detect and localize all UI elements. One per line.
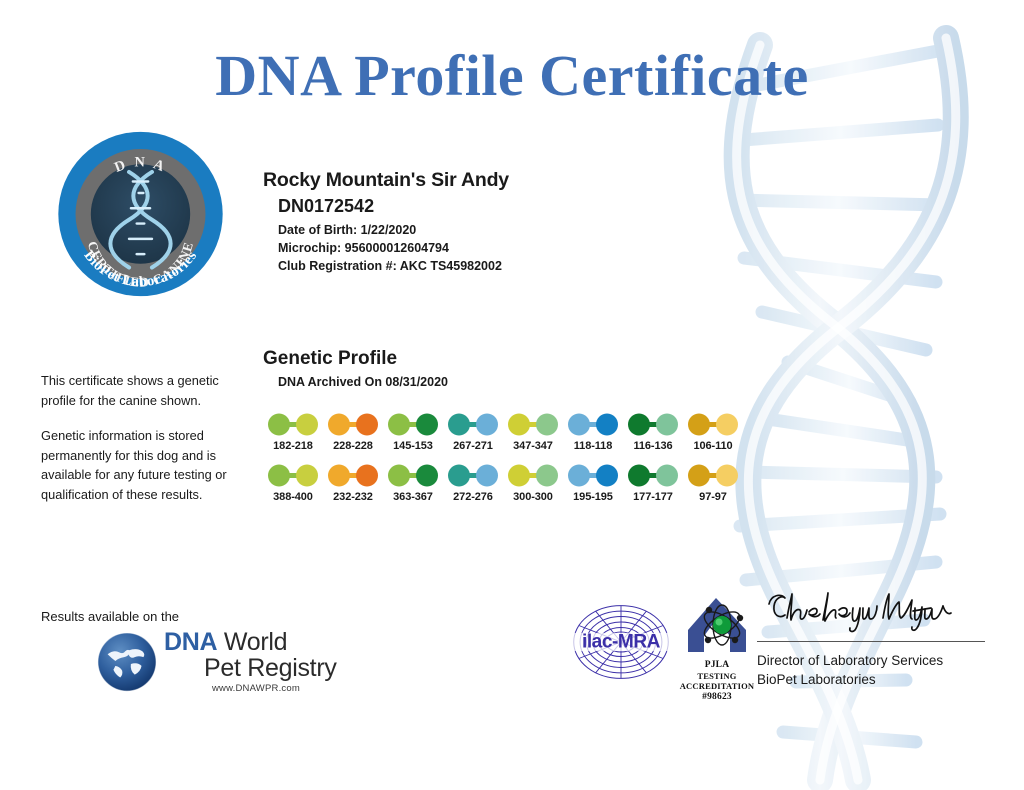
genetic-marker-label: 177-177 <box>633 491 673 503</box>
allele-dumbbell-icon <box>567 464 619 488</box>
registry-block: Results available on the <box>41 609 337 694</box>
genetic-profile-title: Genetic Profile <box>263 348 448 370</box>
allele-dumbbell-icon <box>627 464 679 488</box>
allele-dumbbell-icon <box>687 413 739 437</box>
genetic-marker: 182-218 <box>263 413 323 452</box>
genetic-marker-grid: 182-218228-228145-153267-271347-347118-1… <box>263 413 743 503</box>
description-paragraph-1: This certificate shows a genetic profile… <box>41 371 241 410</box>
genetic-marker-label: 272-276 <box>453 491 493 503</box>
pjla-line-4: #98623 <box>678 692 756 703</box>
allele-dumbbell-icon <box>327 413 379 437</box>
registry-wordmark: DNA World Pet Registry www.DNAWPR.com <box>164 630 337 694</box>
genetic-marker: 116-136 <box>623 413 683 452</box>
dog-club-registration: Club Registration #: AKC TS45982002 <box>278 257 509 275</box>
pjla-atom-icon <box>678 596 756 654</box>
allele-dumbbell-icon <box>627 413 679 437</box>
genetic-marker-label: 195-195 <box>573 491 613 503</box>
genetic-marker-label: 300-300 <box>513 491 553 503</box>
accreditation-block: ilac-MRA PJLA <box>566 596 756 702</box>
genetic-marker-label: 267-271 <box>453 440 493 452</box>
genetic-marker: 145-153 <box>383 413 443 452</box>
registry-lead-text: Results available on the <box>41 609 337 624</box>
genetic-marker-label: 97-97 <box>699 491 727 503</box>
genetic-marker-label: 228-228 <box>333 440 373 452</box>
registry-name-world: World <box>217 628 287 656</box>
registry-name-dna: DNA <box>164 628 217 656</box>
certificate-page: DNA Profile Certificate <box>0 0 1024 790</box>
genetic-marker: 363-367 <box>383 464 443 503</box>
genetic-marker-row: 388-400232-232363-367272-276300-300195-1… <box>263 464 743 503</box>
genetic-marker-label: 116-136 <box>633 440 672 452</box>
genetic-marker: 300-300 <box>503 464 563 503</box>
dna-archived-date: DNA Archived On 08/31/2020 <box>278 375 448 389</box>
allele-dumbbell-icon <box>447 413 499 437</box>
biopet-certified-canine-seal: D N A CERTIFIED CANINE BioPet Laboratori… <box>53 128 228 300</box>
genetic-marker: 267-271 <box>443 413 503 452</box>
genetic-profile-header: Genetic Profile DNA Archived On 08/31/20… <box>263 348 448 389</box>
allele-dumbbell-icon <box>387 464 439 488</box>
allele-dumbbell-icon <box>327 464 379 488</box>
dog-info-block: Rocky Mountain's Sir Andy DN0172542 Date… <box>263 169 509 275</box>
allele-dumbbell-icon <box>567 413 619 437</box>
handwritten-signature <box>765 588 955 634</box>
dna-world-pet-registry-logo[interactable]: DNA World Pet Registry www.DNAWPR.com <box>96 630 337 694</box>
page-title: DNA Profile Certificate <box>0 42 1024 109</box>
genetic-marker: 388-400 <box>263 464 323 503</box>
pjla-accreditation: PJLA TESTING ACCREDITATION #98623 <box>678 596 756 702</box>
pjla-line-1: PJLA <box>678 660 756 671</box>
genetic-marker: 97-97 <box>683 464 743 503</box>
signature-block: Director of Laboratory Services BioPet L… <box>757 588 987 689</box>
globe-icon <box>96 631 158 693</box>
genetic-marker-label: 118-118 <box>574 440 612 452</box>
genetic-marker-label: 388-400 <box>273 491 313 503</box>
description-paragraph-2: Genetic information is stored permanentl… <box>41 426 241 504</box>
dog-name: Rocky Mountain's Sir Andy <box>263 169 509 192</box>
genetic-marker: 118-118 <box>563 413 623 452</box>
genetic-marker-row: 182-218228-228145-153267-271347-347118-1… <box>263 413 743 452</box>
dog-date-of-birth: Date of Birth: 1/22/2020 <box>278 221 509 239</box>
registry-name-pet-registry: Pet Registry <box>204 656 337 681</box>
dog-microchip: Microchip: 956000012604794 <box>278 239 509 257</box>
ilac-mra-logo: ilac-MRA <box>566 602 676 682</box>
allele-dumbbell-icon <box>447 464 499 488</box>
registry-url[interactable]: www.DNAWPR.com <box>212 684 337 694</box>
signer-organization: BioPet Laboratories <box>757 670 987 689</box>
allele-dumbbell-icon <box>267 464 319 488</box>
genetic-marker-label: 232-232 <box>333 491 373 503</box>
dog-registration-id: DN0172542 <box>278 196 509 217</box>
allele-dumbbell-icon <box>687 464 739 488</box>
signature-rule <box>757 641 985 642</box>
genetic-marker: 232-232 <box>323 464 383 503</box>
genetic-marker: 195-195 <box>563 464 623 503</box>
genetic-marker-label: 145-153 <box>393 440 433 452</box>
allele-dumbbell-icon <box>507 464 559 488</box>
genetic-marker: 272-276 <box>443 464 503 503</box>
genetic-marker: 347-347 <box>503 413 563 452</box>
genetic-marker-label: 106-110 <box>693 440 732 452</box>
genetic-marker: 228-228 <box>323 413 383 452</box>
signer-title: Director of Laboratory Services <box>757 651 987 670</box>
genetic-marker: 177-177 <box>623 464 683 503</box>
allele-dumbbell-icon <box>507 413 559 437</box>
pjla-line-3: ACCREDITATION <box>678 681 756 692</box>
ilac-mra-text: ilac-MRA <box>582 631 661 652</box>
pjla-line-2: TESTING <box>678 671 756 682</box>
genetic-marker-label: 182-218 <box>273 440 313 452</box>
allele-dumbbell-icon <box>267 413 319 437</box>
genetic-marker-label: 363-367 <box>393 491 433 503</box>
genetic-marker-label: 347-347 <box>513 440 553 452</box>
allele-dumbbell-icon <box>387 413 439 437</box>
certificate-description: This certificate shows a genetic profile… <box>41 371 241 520</box>
genetic-marker: 106-110 <box>683 413 743 452</box>
